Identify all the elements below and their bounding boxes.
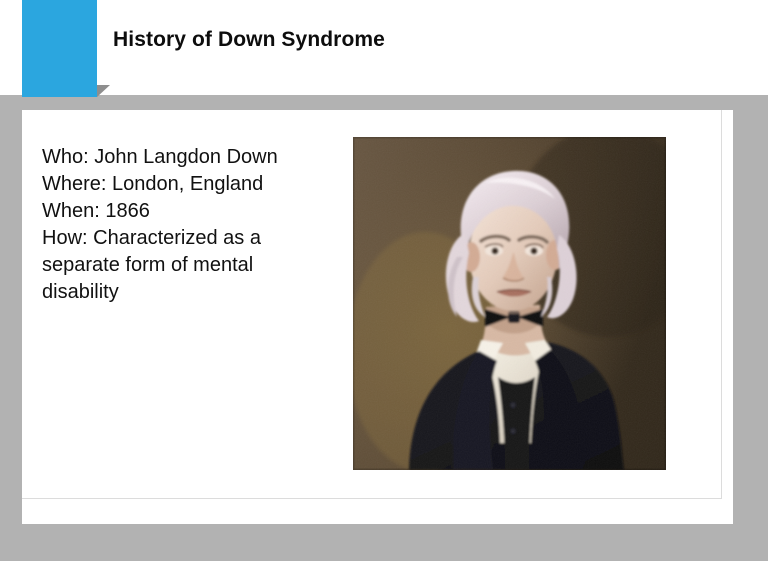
fact-line-where: Where: London, England <box>42 171 342 198</box>
header-gray-band <box>0 95 768 110</box>
fact-line-how-2: separate form of mental <box>42 252 342 279</box>
fact-line-how-1: How: Characterized as a <box>42 225 342 252</box>
accent-fold-shadow <box>97 85 110 97</box>
card-footer-strip <box>22 499 733 524</box>
fact-list: Who: John Langdon Down Where: London, En… <box>42 144 342 306</box>
fact-line-when: When: 1866 <box>42 198 342 225</box>
fact-line-who: Who: John Langdon Down <box>42 144 342 171</box>
portrait-illustration <box>353 137 666 470</box>
slide-content-panel: Who: John Langdon Down Where: London, En… <box>22 110 722 499</box>
portrait-image <box>353 137 666 470</box>
fact-line-how-3: disability <box>42 279 342 306</box>
slide-body-card: Who: John Langdon Down Where: London, En… <box>22 110 733 524</box>
page-title: History of Down Syndrome <box>113 28 385 52</box>
accent-block <box>22 0 97 97</box>
